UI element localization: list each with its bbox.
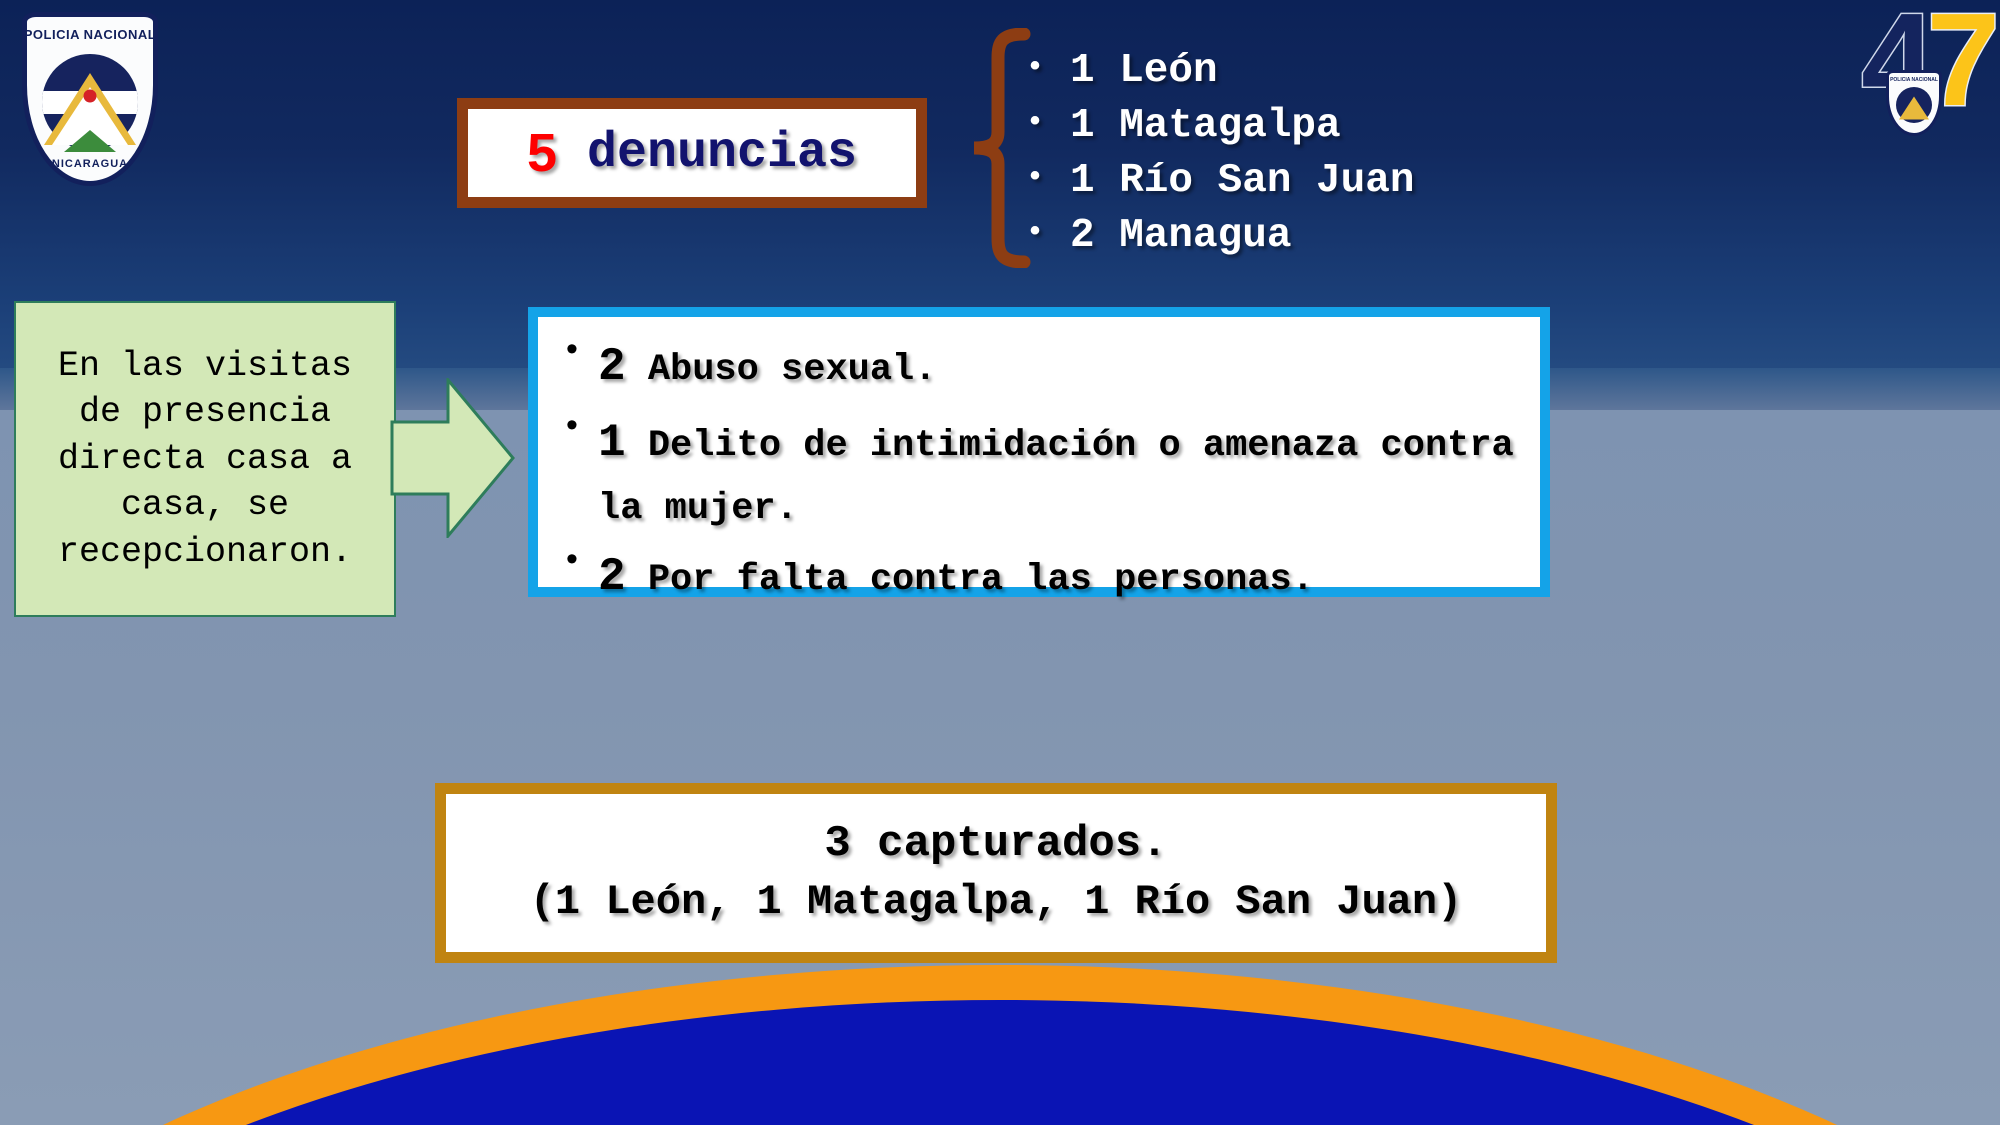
green-line: de presencia [58, 389, 352, 436]
denuncias-summary-box: 5 denuncias [457, 98, 927, 208]
list-item-text: Delito de intimidación o amenaza contra … [598, 425, 1536, 531]
bullet-icon: • [546, 407, 598, 450]
green-line: recepcionaron. [58, 529, 352, 576]
badge-top-label: POLICIA NACIONAL [22, 27, 158, 42]
list-item-count: 2 [598, 551, 626, 603]
list-item-label: 2 Abuso sexual. [598, 331, 936, 405]
delitos-detail-box: • 2 Abuso sexual. • 1 Delito de intimida… [528, 307, 1550, 597]
bullet-icon: • [1000, 53, 1070, 83]
denuncias-label: denuncias [557, 125, 857, 182]
bullet-icon: • [546, 331, 598, 374]
green-callout-text: En las visitas de presencia directa casa… [46, 343, 364, 576]
locations-bullet-list: • 1 León • 1 Matagalpa • 1 Río San Juan … [1000, 48, 1640, 268]
list-item-label: 1 Delito de intimidación o amenaza contr… [598, 407, 1532, 540]
list-item-count: 2 [598, 341, 626, 393]
green-line: directa casa a [58, 436, 352, 483]
green-line: casa, se [58, 482, 352, 529]
list-item: • 1 Río San Juan [1000, 158, 1640, 213]
badge-bottom-label: NICARAGUA [22, 158, 158, 170]
list-item-label: 1 Matagalpa [1070, 103, 1341, 149]
list-item: • 2 Por falta contra las personas. [546, 541, 1532, 615]
capturados-headline: 3 capturados. [824, 815, 1167, 874]
list-item-text: Por falta contra las personas. [626, 559, 1314, 601]
list-item-text: Abuso sexual. [626, 349, 937, 391]
list-item-label: 2 Managua [1070, 213, 1291, 259]
bullet-icon: • [1000, 218, 1070, 248]
list-item-label: 1 Río San Juan [1070, 158, 1414, 204]
green-line: En las visitas [58, 343, 352, 390]
slide-root: POLICIA NACIONAL NICARAGUA 47 POLICIA NA… [0, 0, 2000, 1125]
capturados-detail: (1 León, 1 Matagalpa, 1 Río San Juan) [530, 874, 1463, 931]
capturados-summary-box: 3 capturados. (1 León, 1 Matagalpa, 1 Rí… [435, 783, 1557, 963]
badge-sun [84, 89, 97, 102]
denuncias-count: 5 [527, 122, 557, 184]
capturados-inner: 3 capturados. (1 León, 1 Matagalpa, 1 Rí… [446, 794, 1546, 952]
list-item: • 2 Abuso sexual. [546, 331, 1532, 405]
list-item-label: 1 León [1070, 48, 1218, 94]
denuncias-inner: 5 denuncias [468, 109, 916, 197]
bullet-icon: • [1000, 108, 1070, 138]
list-item: • 1 León [1000, 48, 1640, 103]
list-item: • 1 Matagalpa [1000, 103, 1640, 158]
badge-mountain [64, 130, 116, 152]
green-callout-box: En las visitas de presencia directa casa… [14, 301, 396, 617]
anniversary-badge-label: POLICIA NACIONAL [1889, 77, 1939, 83]
right-arrow-icon [390, 378, 515, 538]
delitos-inner: • 2 Abuso sexual. • 1 Delito de intimida… [538, 317, 1540, 587]
policia-nacional-badge-icon: POLICIA NACIONAL NICARAGUA [22, 12, 158, 186]
list-item: • 2 Managua [1000, 213, 1640, 268]
anniversary-47-logo: 47 POLICIA NACIONAL [1842, 8, 1992, 138]
list-item-count: 1 [598, 417, 626, 469]
bullet-icon: • [1000, 163, 1070, 193]
bullet-icon: • [546, 541, 598, 584]
list-item: • 1 Delito de intimidación o amenaza con… [546, 407, 1532, 540]
anniversary-badge-triangle [1899, 96, 1929, 119]
list-item-label: 2 Por falta contra las personas. [598, 541, 1314, 615]
